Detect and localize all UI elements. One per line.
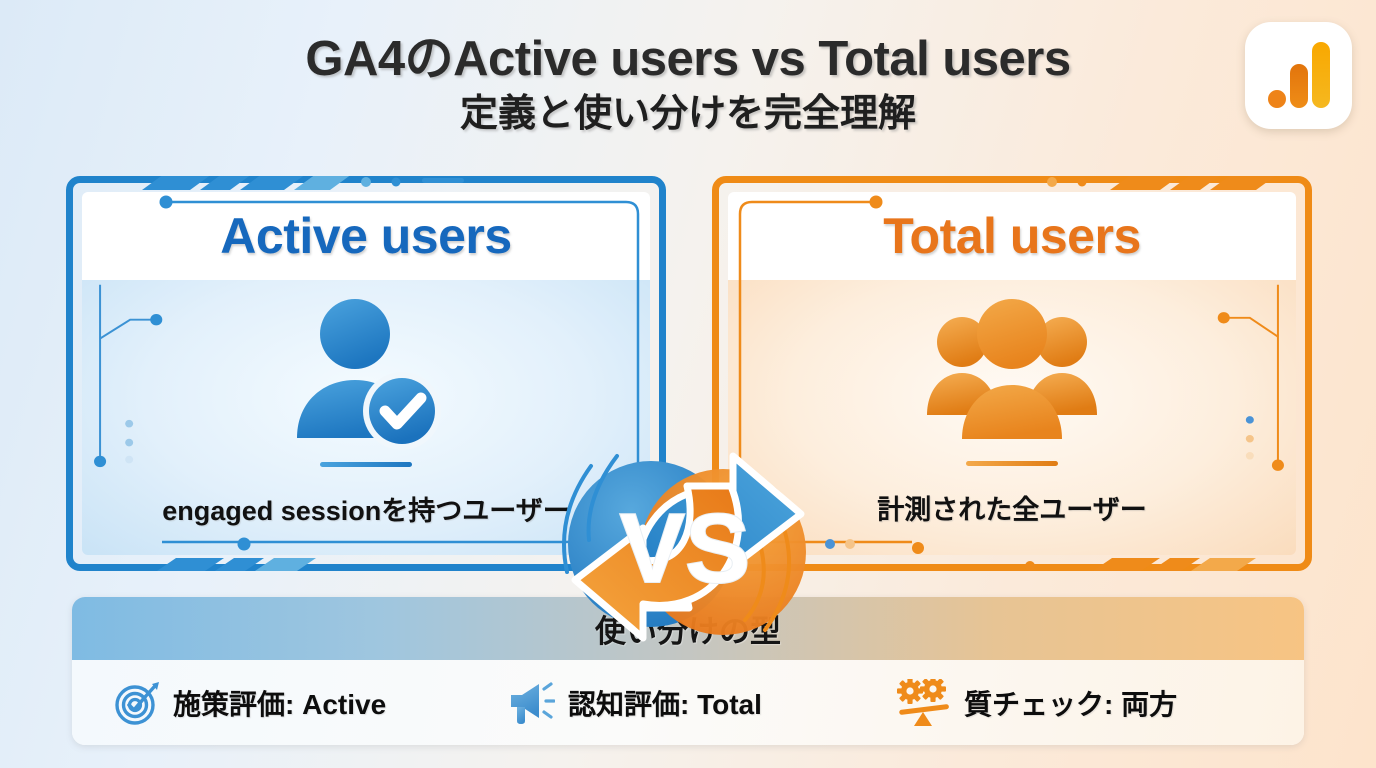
panel-title-total-users: Total users: [883, 207, 1141, 265]
panel-title-bar-right: Total users: [728, 192, 1296, 280]
panel-caption-active-users: engaged sessionを持つユーザー: [162, 489, 570, 528]
panel-caption-total-users: 計測された全ユーザー: [877, 488, 1146, 527]
usage-item-both: 質チェック: 両方: [897, 679, 1177, 727]
icon-underline-right: [966, 461, 1058, 466]
panel-title-active-users: Active users: [220, 207, 511, 265]
user-group-icon: [923, 299, 1101, 449]
panel-title-bar-left: Active users: [82, 192, 650, 280]
page-title: GA4のActive users vs Total users: [180, 32, 1196, 87]
header: GA4のActive users vs Total users 定義と使い分けを…: [0, 0, 1376, 172]
google-analytics-logo: [1245, 22, 1352, 129]
usage-item-label-both: 質チェック: 両方: [964, 683, 1177, 723]
title-block: GA4のActive users vs Total users 定義と使い分けを…: [0, 32, 1376, 138]
usage-item-active: 施策評価: Active: [114, 680, 509, 726]
target-check-icon: [114, 680, 160, 726]
page-subtitle: 定義と使い分けを完全理解: [180, 91, 1196, 139]
svg-text:VS: VS: [620, 493, 751, 603]
verified-user-icon: [283, 298, 449, 450]
balance-gears-icon: [897, 679, 951, 727]
icon-underline-left: [320, 462, 412, 467]
usage-item-label-active: 施策評価: Active: [173, 683, 386, 723]
versus-badge: VS: [533, 394, 843, 704]
comparison-panels: Active users: [0, 176, 1376, 576]
